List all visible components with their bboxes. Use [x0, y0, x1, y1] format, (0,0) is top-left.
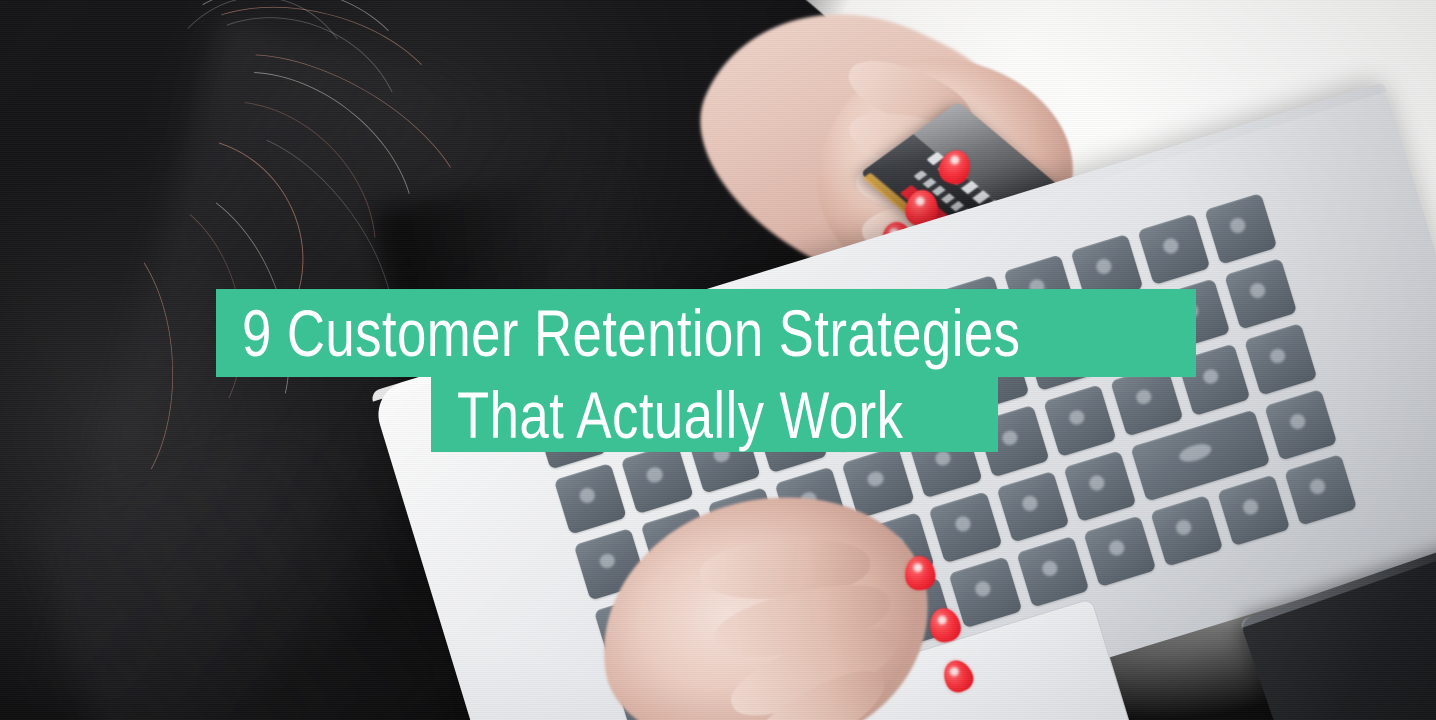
- title-line-1-text: 9 Customer Retention Strategies: [242, 300, 1020, 366]
- title-banner-line-1: 9 Customer Retention Strategies: [216, 289, 1196, 377]
- blog-hero-banner: 9 Customer Retention Strategies That Act…: [0, 0, 1436, 720]
- title-line-2-text: That Actually Work: [457, 382, 903, 448]
- hero-title-overlay: 9 Customer Retention Strategies That Act…: [0, 0, 1436, 720]
- title-banner-line-2: That Actually Work: [431, 377, 998, 452]
